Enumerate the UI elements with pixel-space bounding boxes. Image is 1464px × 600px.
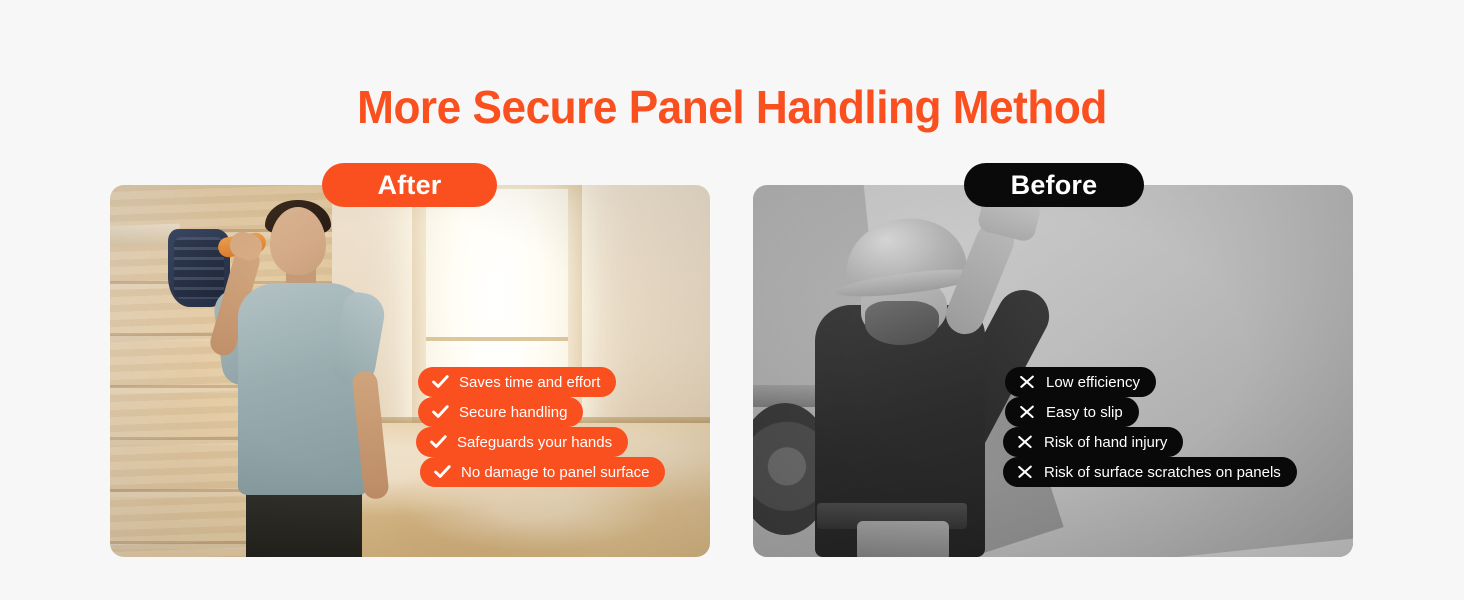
check-icon (428, 432, 448, 452)
after-feature-item: Secure handling (418, 397, 583, 427)
check-icon (430, 402, 450, 422)
before-drawback-item: Risk of hand injury (1003, 427, 1183, 457)
after-feature-item: Safeguards your hands (416, 427, 628, 457)
after-badge: After (322, 163, 497, 207)
x-icon (1017, 372, 1037, 392)
before-drawback-item: Easy to slip (1005, 397, 1139, 427)
after-feature-list: Saves time and effort Secure handling Sa… (418, 367, 665, 487)
check-icon (430, 372, 450, 392)
check-icon (432, 462, 452, 482)
after-feature-label: Safeguards your hands (457, 435, 612, 450)
after-feature-item: No damage to panel surface (420, 457, 665, 487)
after-feature-label: No damage to panel surface (461, 465, 649, 480)
page-title: More Secure Panel Handling Method (29, 80, 1434, 134)
before-drawback-label: Risk of surface scratches on panels (1044, 465, 1281, 480)
before-drawback-item: Risk of surface scratches on panels (1003, 457, 1297, 487)
before-drawback-label: Risk of hand injury (1044, 435, 1167, 450)
before-badge: Before (964, 163, 1144, 207)
before-drawback-list: Low efficiency Easy to slip Risk of hand… (1005, 367, 1297, 487)
x-icon (1015, 462, 1035, 482)
x-icon (1015, 432, 1035, 452)
after-feature-item: Saves time and effort (418, 367, 616, 397)
before-drawback-label: Easy to slip (1046, 405, 1123, 420)
after-feature-label: Saves time and effort (459, 375, 600, 390)
before-drawback-item: Low efficiency (1005, 367, 1156, 397)
before-drawback-label: Low efficiency (1046, 375, 1140, 390)
after-feature-label: Secure handling (459, 405, 567, 420)
comparison-banner: More Secure Panel Handling Method (0, 0, 1464, 600)
x-icon (1017, 402, 1037, 422)
